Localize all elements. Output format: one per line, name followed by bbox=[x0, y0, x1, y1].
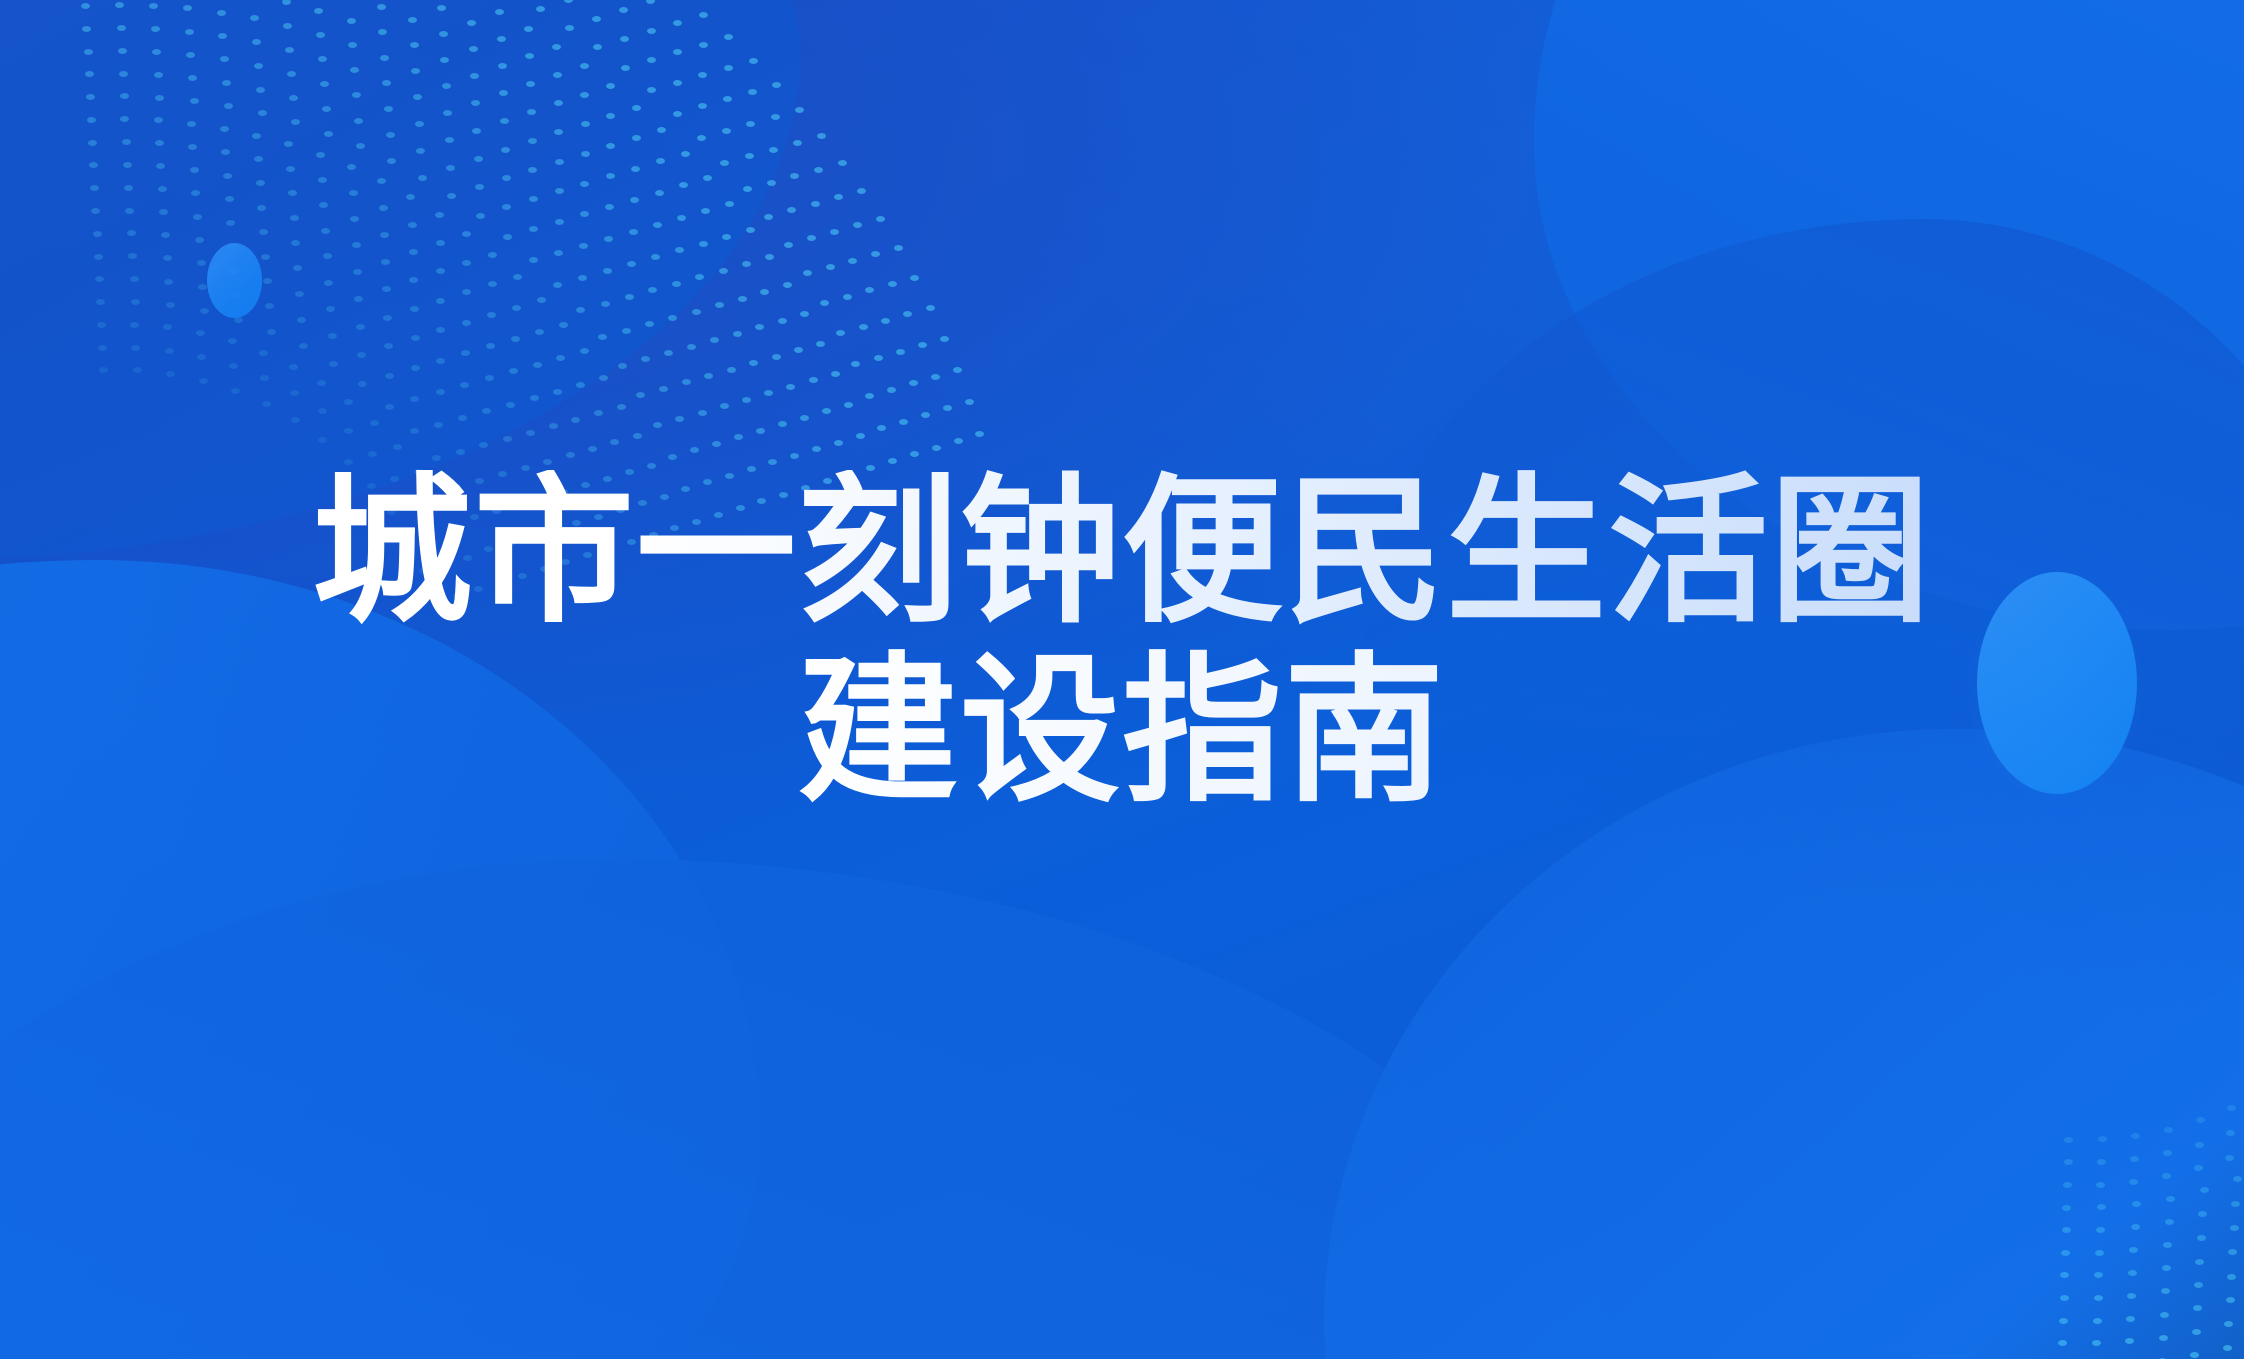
accent-ellipse-left bbox=[207, 243, 262, 318]
poster-title-line-2: 建设指南 bbox=[0, 649, 2244, 814]
poster-canvas: 城市一刻钟便民生活圈 建设指南 bbox=[0, 0, 2244, 1359]
poster-title-block: 城市一刻钟便民生活圈 建设指南 bbox=[0, 470, 2244, 814]
poster-title-line-1: 城市一刻钟便民生活圈 bbox=[0, 470, 2244, 635]
